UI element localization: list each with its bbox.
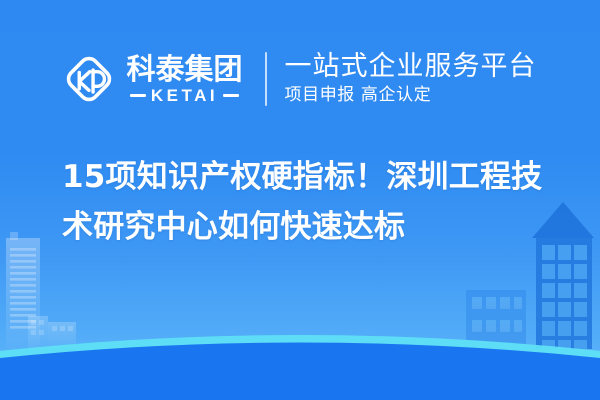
banner-graphic: 科泰集团 KETAI 一站式企业服务平台 项目申报 高企认定 15项知识产权硬指… [0, 0, 600, 400]
building-wide-block-right [466, 290, 526, 348]
logo-wordmark: 科泰集团 KETAI [126, 55, 242, 104]
bottom-highlight-arc [0, 335, 600, 400]
page-title: 15项知识产权硬指标！深圳工程技术研究中心如何快速达标 [62, 152, 562, 252]
header-vertical-divider [265, 52, 267, 106]
building-tall-tower-left [6, 232, 40, 350]
logo-dash-right-icon [223, 94, 239, 97]
headline-block: 15项知识产权硬指标！深圳工程技术研究中心如何快速达标 [62, 152, 562, 252]
banner-header: 科泰集团 KETAI 一站式企业服务平台 项目申报 高企认定 [0, 38, 600, 120]
logo-latin-row: KETAI [130, 87, 239, 104]
logo-dash-left-icon [130, 94, 146, 97]
brand-lockup: 科泰集团 KETAI [63, 53, 242, 105]
building-low-block-left [28, 316, 76, 350]
tagline-primary: 一站式企业服务平台 [285, 53, 537, 81]
logo-company-name-latin: KETAI [151, 87, 218, 104]
logo-company-name-cn: 科泰集团 [126, 55, 242, 84]
tagline-block: 一站式企业服务平台 项目申报 高企认定 [285, 53, 537, 104]
ketai-diamond-kp-logo-icon [63, 53, 115, 105]
tagline-secondary: 项目申报 高企认定 [285, 86, 537, 105]
